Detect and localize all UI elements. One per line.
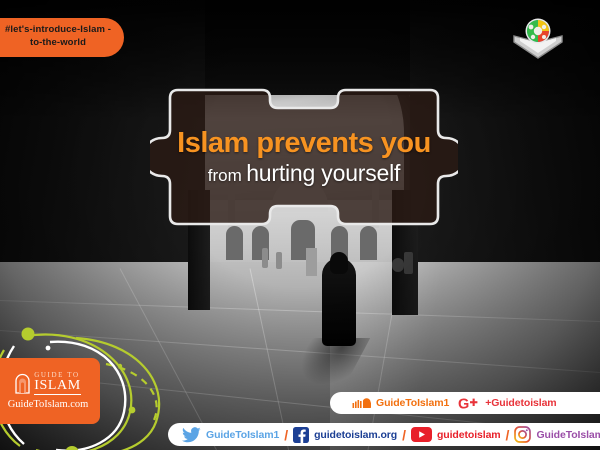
social-bar-bottom: GuideToIslam1 / guidetoislam.org / guide…	[168, 423, 600, 446]
headline-primary: Islam prevents you	[177, 129, 431, 158]
facebook-icon	[293, 427, 309, 443]
brand-wordmark: GUIDE TO ISLAM	[34, 372, 81, 395]
youtube-icon	[411, 427, 432, 442]
social-label-soundcloud: GuideToIslam1	[376, 397, 449, 409]
headline-secondary-big: hurting yourself	[246, 160, 400, 186]
soundcloud-icon	[352, 397, 371, 410]
social-bar-top: GuideToIslam1 G +Guidetoislam	[330, 392, 600, 414]
social-item-googleplus[interactable]: G +Guidetoislam	[458, 396, 556, 411]
brand-logo-box[interactable]: GUIDE TO ISLAM GuideToIslam.com	[0, 358, 100, 424]
social-item-twitter[interactable]: GuideToIslam1	[182, 427, 279, 443]
poster-canvas: #let's-introduce-Islam -to-the-world Isl…	[0, 0, 600, 450]
social-label-instagram: GuideToIslam11	[536, 429, 600, 441]
twitter-icon	[182, 427, 201, 443]
svg-text:G: G	[458, 396, 469, 411]
open-book-globe-logo	[510, 12, 566, 62]
separator-slash: /	[402, 427, 406, 443]
brand-islam-text: ISLAM	[34, 379, 81, 395]
headline-secondary-small: from	[208, 166, 242, 185]
brand-website-url[interactable]: GuideToIslam.com	[8, 399, 89, 410]
headline-secondary: from hurting yourself	[208, 162, 401, 185]
social-item-facebook[interactable]: guidetoislam.org	[293, 427, 397, 443]
social-label-twitter: GuideToIslam1	[206, 429, 279, 441]
instagram-icon	[514, 426, 531, 443]
social-item-soundcloud[interactable]: GuideToIslam1	[352, 397, 449, 410]
google-plus-icon: G	[458, 396, 480, 411]
social-label-youtube: guidetoislam	[437, 429, 501, 441]
banner-text-block: Islam prevents you from hurting yourself	[150, 86, 458, 228]
social-label-facebook: guidetoislam.org	[314, 429, 397, 441]
social-label-googleplus: +Guidetoislam	[485, 397, 556, 409]
hashtag-banner: #let's-introduce-Islam -to-the-world	[0, 18, 124, 57]
brand-logo-row: GUIDE TO ISLAM	[15, 372, 81, 395]
mihrab-arch-icon	[15, 373, 30, 394]
social-item-instagram[interactable]: GuideToIslam11	[514, 426, 600, 443]
headline-banner: Islam prevents you from hurting yourself	[150, 86, 458, 228]
separator-slash: /	[284, 427, 288, 443]
social-item-youtube[interactable]: guidetoislam	[411, 427, 501, 442]
separator-slash: /	[506, 427, 510, 443]
